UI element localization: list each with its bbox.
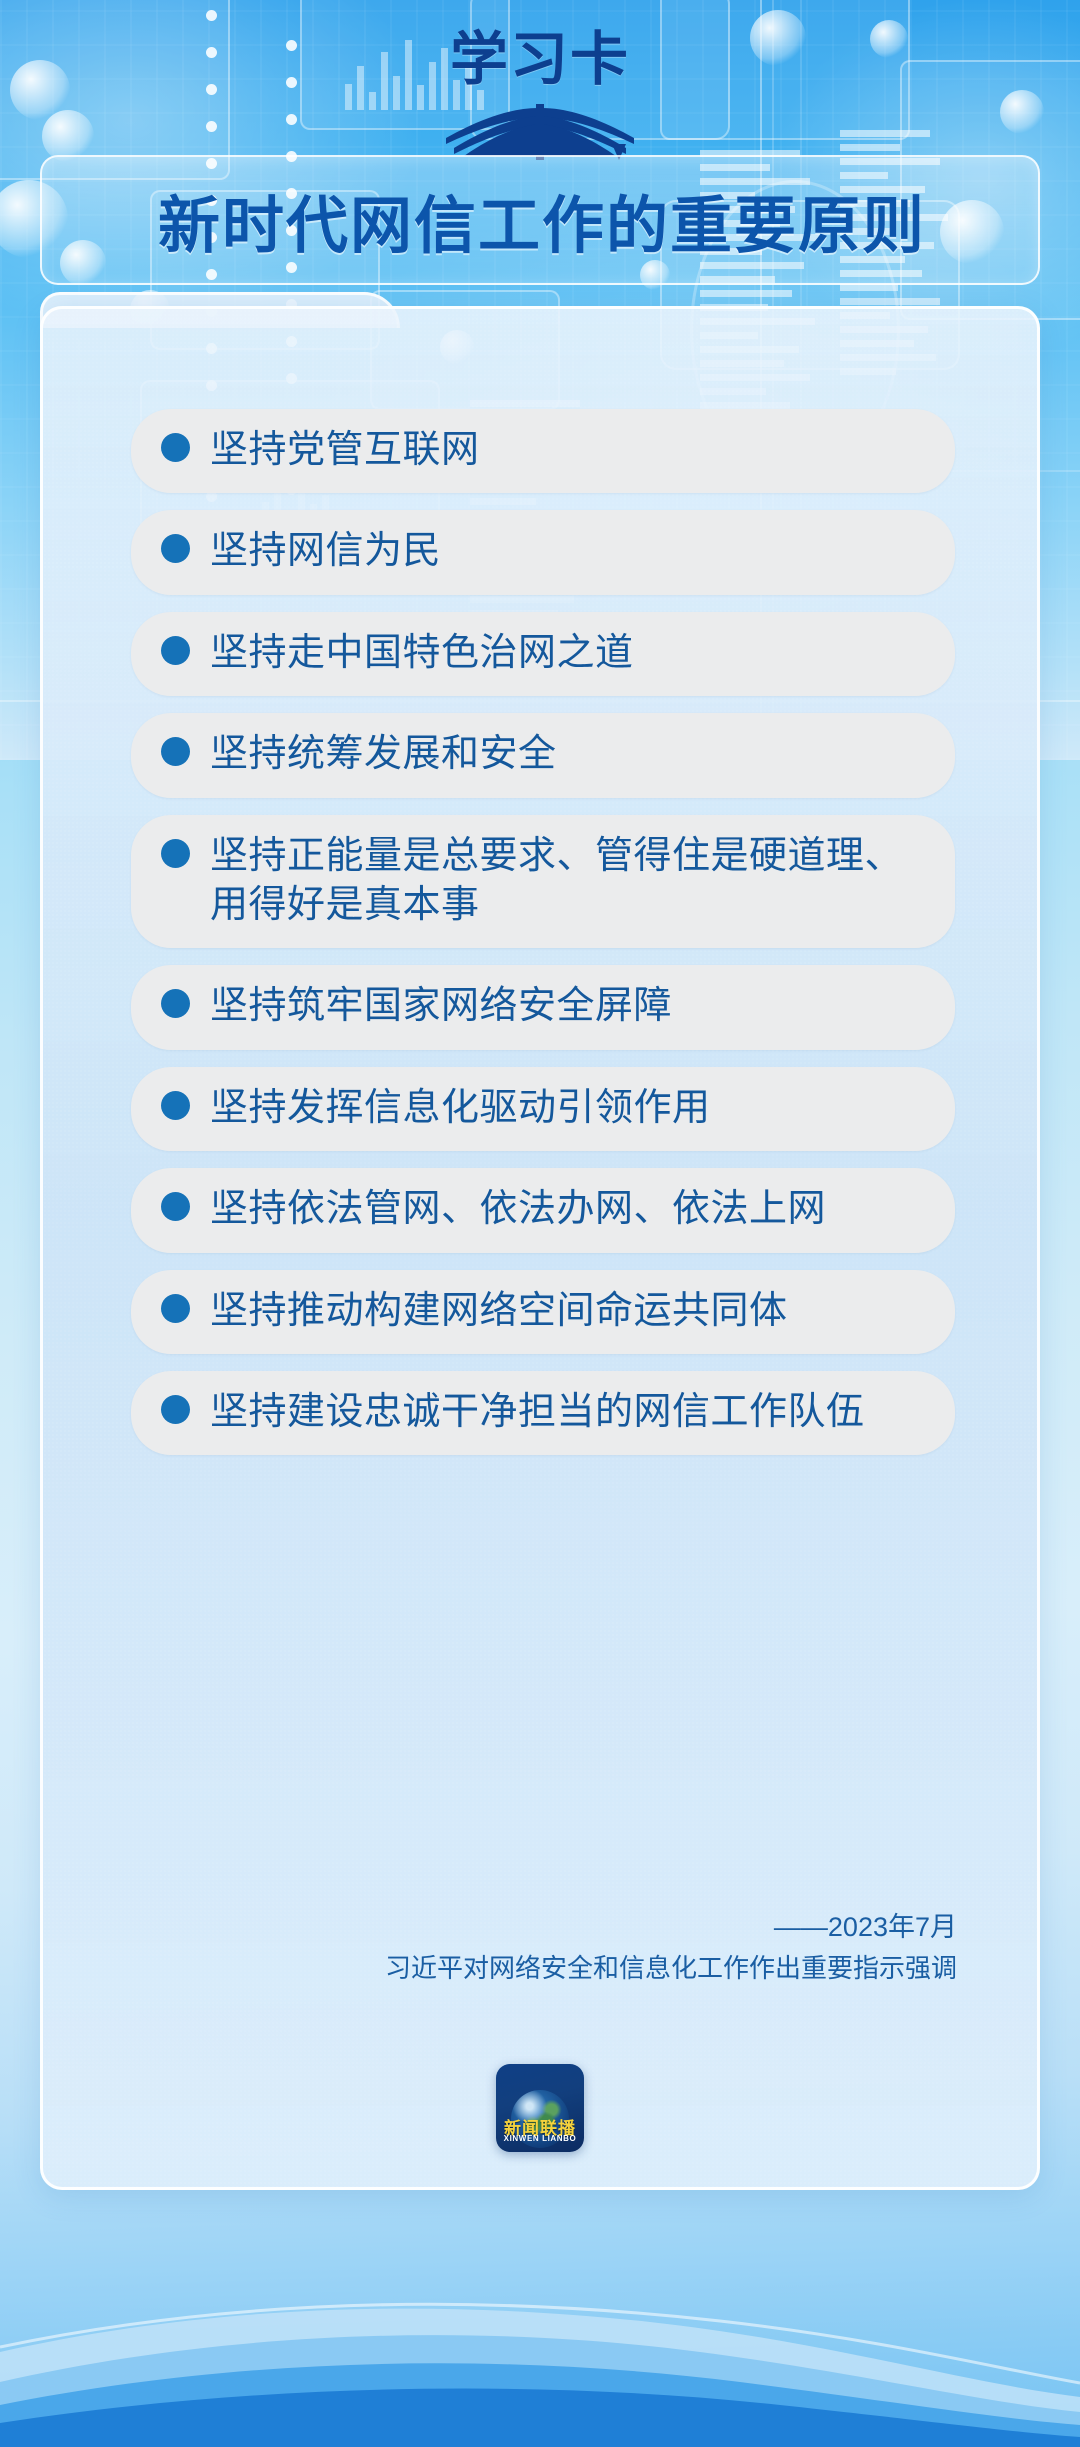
bullet-icon xyxy=(161,1294,190,1323)
attribution-date: ——2023年7月 xyxy=(237,1907,957,1948)
page-title: 新时代网信工作的重要原则 xyxy=(42,157,1042,283)
bullet-icon xyxy=(161,989,190,1018)
bullet-icon xyxy=(161,839,190,868)
bottom-wave-decoration xyxy=(0,2147,1080,2447)
list-item-label: 坚持发挥信息化驱动引领作用 xyxy=(210,1084,711,1133)
list-item[interactable]: 坚持发挥信息化驱动引领作用 xyxy=(131,1067,955,1151)
list-item-label: 坚持网信为民 xyxy=(210,527,441,576)
open-book-icon xyxy=(440,82,640,165)
list-item[interactable]: 坚持党管互联网 xyxy=(131,409,955,493)
list-item-label: 坚持党管互联网 xyxy=(210,426,480,475)
list-item-label: 坚持推动构建网络空间命运共同体 xyxy=(210,1287,788,1336)
list-item-label: 坚持依法管网、依法办网、依法上网 xyxy=(210,1185,826,1234)
bullet-icon xyxy=(161,737,190,766)
xinwen-lianbo-logo[interactable]: 新闻联播 XINWEN LIANBO xyxy=(496,2064,584,2152)
title-plate: 新时代网信工作的重要原则 xyxy=(40,155,1040,285)
list-item-label: 坚持正能量是总要求、管得住是硬道理、用得好是真本事 xyxy=(210,832,925,931)
principles-card: 坚持党管互联网 坚持网信为民 坚持走中国特色治网之道 坚持统筹发展和安全 坚持正… xyxy=(40,306,1040,2190)
bullet-icon xyxy=(161,1091,190,1120)
attribution-source: 习近平对网络安全和信息化工作作出重要指示强调 xyxy=(237,1948,957,1990)
bullet-icon xyxy=(161,534,190,563)
bullet-icon xyxy=(161,1192,190,1221)
list-item[interactable]: 坚持筑牢国家网络安全屏障 xyxy=(131,965,955,1049)
bullet-icon xyxy=(161,433,190,462)
list-item[interactable]: 坚持统筹发展和安全 xyxy=(131,713,955,797)
xinwen-lianbo-logo-en: XINWEN LIANBO xyxy=(496,2134,584,2143)
principles-list: 坚持党管互联网 坚持网信为民 坚持走中国特色治网之道 坚持统筹发展和安全 坚持正… xyxy=(131,409,955,1455)
list-item[interactable]: 坚持依法管网、依法办网、依法上网 xyxy=(131,1168,955,1252)
bullet-icon xyxy=(161,636,190,665)
list-item-label: 坚持统筹发展和安全 xyxy=(210,730,557,779)
list-item-label: 坚持筑牢国家网络安全屏障 xyxy=(210,982,672,1031)
list-item[interactable]: 坚持走中国特色治网之道 xyxy=(131,612,955,696)
list-item-label: 坚持走中国特色治网之道 xyxy=(210,629,634,678)
list-item[interactable]: 坚持网信为民 xyxy=(131,510,955,594)
brand-logo-text: 学习卡 xyxy=(450,30,630,88)
list-item[interactable]: 坚持推动构建网络空间命运共同体 xyxy=(131,1270,955,1354)
bullet-icon xyxy=(161,1395,190,1424)
attribution: ——2023年7月 习近平对网络安全和信息化工作作出重要指示强调 xyxy=(237,1907,957,1989)
list-item[interactable]: 坚持正能量是总要求、管得住是硬道理、用得好是真本事 xyxy=(131,815,955,949)
list-item-label: 坚持建设忠诚干净担当的网信工作队伍 xyxy=(210,1388,865,1437)
list-item[interactable]: 坚持建设忠诚干净担当的网信工作队伍 xyxy=(131,1371,955,1455)
